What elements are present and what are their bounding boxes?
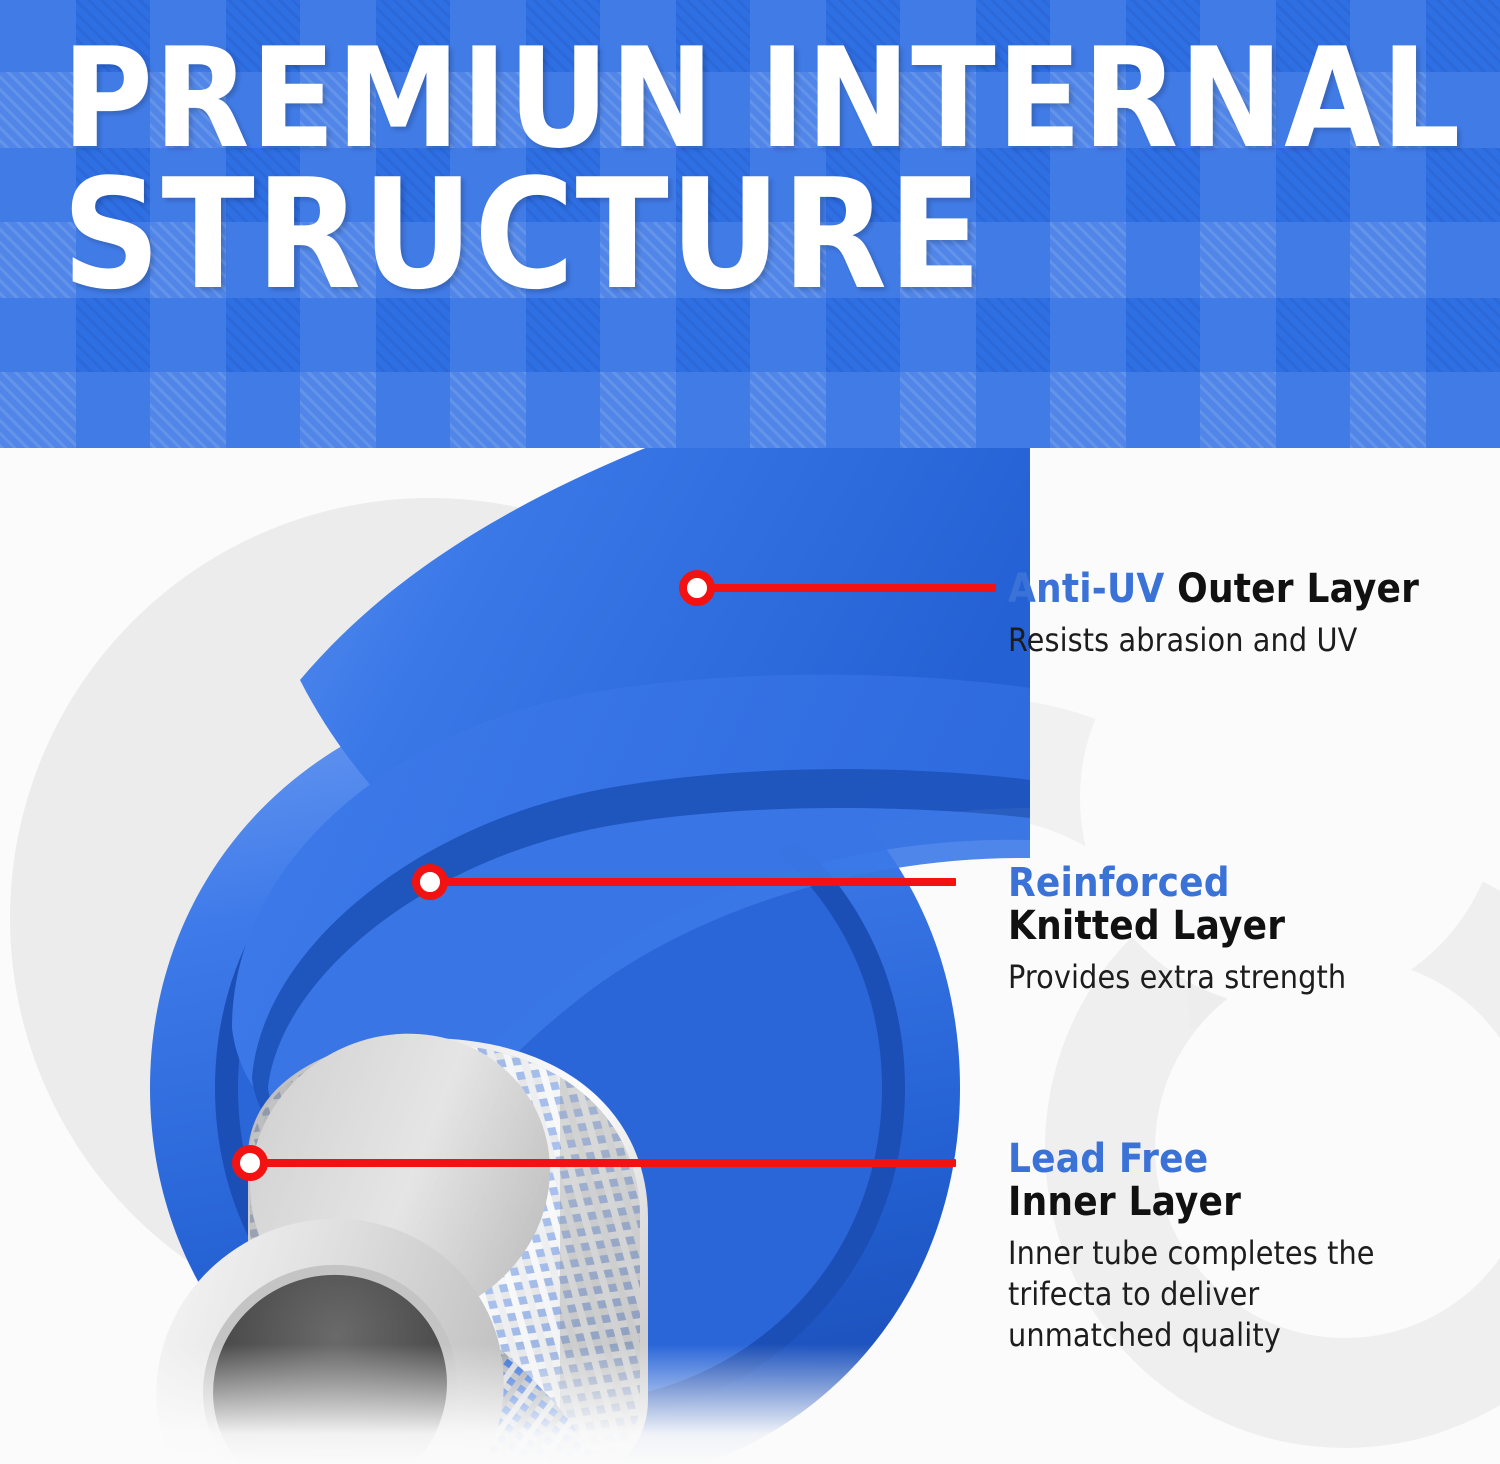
callout-1-title: Anti-UV Outer Layer	[1008, 568, 1419, 611]
callout-1-subtitle: Resists abrasion and UV	[1008, 620, 1419, 661]
callout-3-title-rest: Inner Layer	[1008, 1181, 1375, 1224]
callout-3-subtitle-line-2: trifecta to deliver	[1008, 1274, 1375, 1315]
callout-2-subtitle: Provides extra strength	[1008, 957, 1346, 998]
page-title-line-1: PREMIUN INTERNAL	[62, 34, 1462, 164]
illustration-bottom-fade	[0, 1344, 1030, 1464]
connector-line-3	[260, 1159, 956, 1167]
callout-3-title-accent: Lead Free	[1008, 1138, 1375, 1181]
callout-1-title-accent: Anti-UV	[1008, 566, 1164, 612]
connector-line-1	[706, 584, 996, 592]
callout-2-title-rest: Knitted Layer	[1008, 905, 1346, 948]
page-title-line-2: STRUCTURE	[62, 164, 1462, 307]
callout-2-title-accent: Reinforced	[1008, 862, 1346, 905]
callout-3-subtitle: Inner tube completes the trifecta to del…	[1008, 1233, 1375, 1356]
callout-reinforced-knitted-layer: Reinforced Knitted Layer Provides extra …	[1008, 862, 1346, 998]
infographic-page: PREMIUN INTERNAL STRUCTURE	[0, 0, 1500, 1464]
header-banner: PREMIUN INTERNAL STRUCTURE	[0, 0, 1500, 448]
callout-1-title-rest: Outer Layer	[1177, 566, 1419, 612]
callout-anti-uv-outer-layer: Anti-UV Outer Layer Resists abrasion and…	[1008, 568, 1419, 661]
hose-cutaway-illustration	[0, 448, 1030, 1464]
callout-marker-2[interactable]	[412, 864, 448, 900]
callout-3-subtitle-line-1: Inner tube completes the	[1008, 1233, 1375, 1274]
page-title: PREMIUN INTERNAL STRUCTURE	[62, 34, 1462, 307]
callout-lead-free-inner-layer: Lead Free Inner Layer Inner tube complet…	[1008, 1138, 1375, 1356]
callout-3-title: Lead Free Inner Layer	[1008, 1138, 1375, 1224]
connector-line-2	[440, 878, 956, 886]
callout-3-subtitle-line-3: unmatched quality	[1008, 1315, 1375, 1356]
callout-2-title: Reinforced Knitted Layer	[1008, 862, 1346, 948]
callout-marker-3[interactable]	[232, 1145, 268, 1181]
callout-marker-1[interactable]	[679, 570, 715, 606]
